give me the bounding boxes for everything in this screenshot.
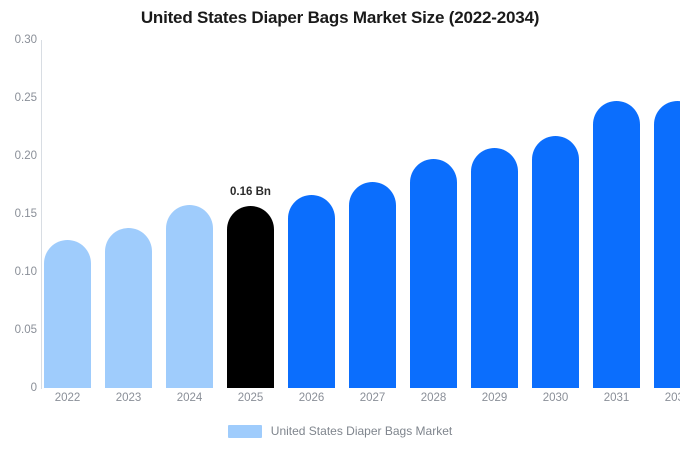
bar-2030[interactable] bbox=[532, 136, 579, 388]
x-axis-tick-label-2029: 2029 bbox=[471, 392, 518, 404]
legend-label-0[interactable]: United States Diaper Bags Market bbox=[271, 424, 452, 438]
bar-2032[interactable] bbox=[654, 101, 680, 388]
bar-2026[interactable] bbox=[288, 195, 335, 388]
bar-2031[interactable] bbox=[593, 101, 640, 388]
legend-swatch-0 bbox=[228, 425, 262, 438]
bar-slot bbox=[471, 40, 518, 388]
x-axis-tick-label-2032: 2032 bbox=[654, 392, 680, 404]
bar-slot bbox=[166, 40, 213, 388]
bar-slot bbox=[44, 40, 91, 388]
bar-2022[interactable] bbox=[44, 240, 91, 388]
x-axis-tick-label-2030: 2030 bbox=[532, 392, 579, 404]
bar-slot bbox=[288, 40, 335, 388]
y-axis-tick-label: 0.25 bbox=[3, 92, 37, 104]
x-axis-tick-label-2023: 2023 bbox=[105, 392, 152, 404]
x-axis-tick-label-2022: 2022 bbox=[44, 392, 91, 404]
y-axis-tick-label: 0.15 bbox=[3, 208, 37, 220]
y-axis-tick-label: 0.05 bbox=[3, 324, 37, 336]
bar-2027[interactable] bbox=[349, 182, 396, 388]
bar-slot: 0.16 Bn bbox=[227, 40, 274, 388]
x-axis-tick-label-2026: 2026 bbox=[288, 392, 335, 404]
chart-title: United States Diaper Bags Market Size (2… bbox=[0, 8, 680, 28]
y-axis-tick-label: 0.20 bbox=[3, 150, 37, 162]
bar-2023[interactable] bbox=[105, 228, 152, 388]
bar-2029[interactable] bbox=[471, 148, 518, 388]
bar-slot bbox=[349, 40, 396, 388]
bar-chart: United States Diaper Bags Market Size (2… bbox=[0, 0, 680, 450]
bar-slot bbox=[410, 40, 457, 388]
bar-slot bbox=[593, 40, 640, 388]
y-axis-tick-label: 0.30 bbox=[3, 34, 37, 46]
bar-2024[interactable] bbox=[166, 205, 213, 388]
bar-2025[interactable] bbox=[227, 206, 274, 388]
bar-slot bbox=[105, 40, 152, 388]
x-axis-tick-label-2028: 2028 bbox=[410, 392, 457, 404]
bar-slot bbox=[654, 40, 680, 388]
bar-value-label-2025: 0.16 Bn bbox=[230, 186, 271, 198]
y-axis: 00.050.100.150.200.250.30 bbox=[0, 40, 37, 388]
x-axis-tick-label-2031: 2031 bbox=[593, 392, 640, 404]
bar-slot bbox=[532, 40, 579, 388]
chart-legend: United States Diaper Bags Market bbox=[0, 424, 680, 438]
bar-2028[interactable] bbox=[410, 159, 457, 388]
x-axis-tick-label-2027: 2027 bbox=[349, 392, 396, 404]
plot-area: 0.16 Bn0.30 Bn bbox=[41, 40, 676, 388]
x-axis-tick-label-2024: 2024 bbox=[166, 392, 213, 404]
x-axis-tick-label-2025: 2025 bbox=[227, 392, 274, 404]
x-axis: 2022202320242025202620272028202920302031… bbox=[41, 392, 676, 410]
y-axis-tick-label: 0.10 bbox=[3, 266, 37, 278]
y-axis-tick-label: 0 bbox=[3, 382, 37, 394]
